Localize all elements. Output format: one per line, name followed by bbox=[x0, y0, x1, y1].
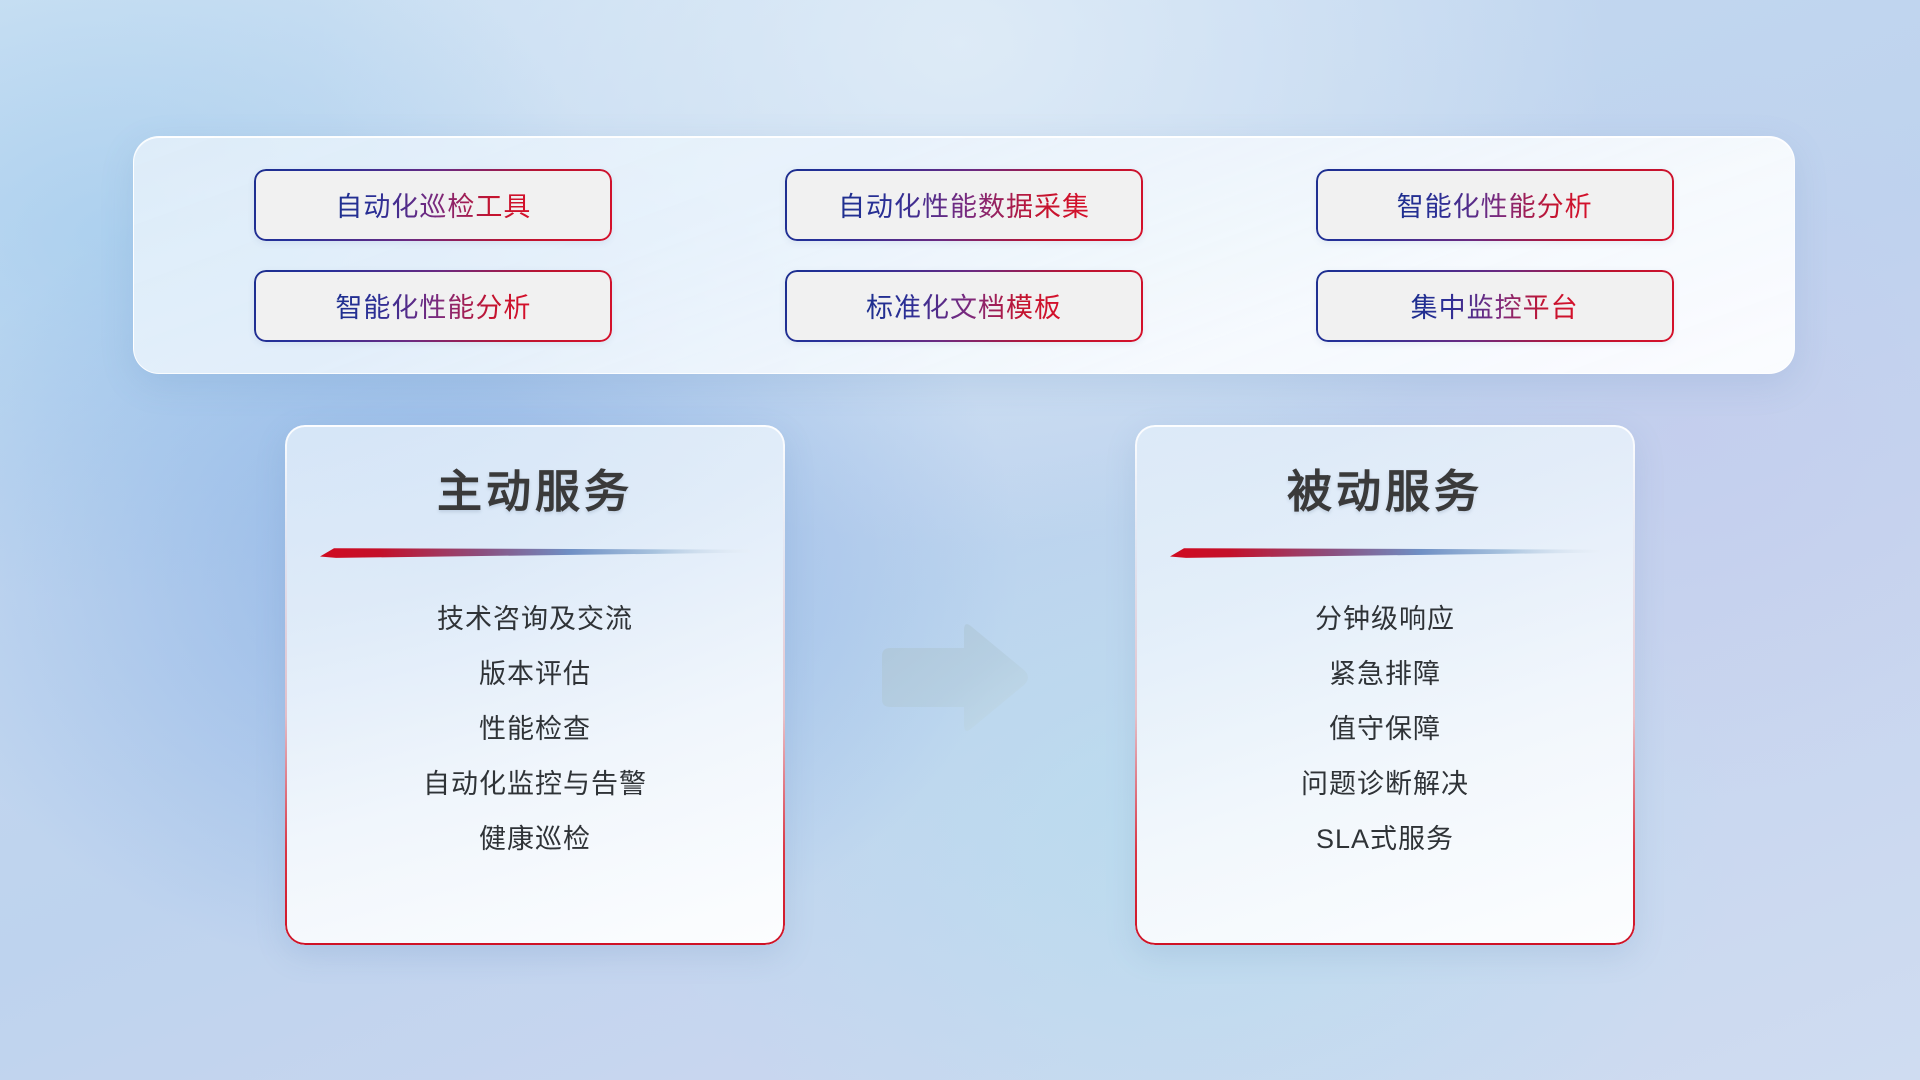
active-service-title: 主动服务 bbox=[285, 455, 785, 520]
capability-pill-label: 标准化文档模板 bbox=[866, 286, 1062, 325]
active-service-card: 主动服务 技术咨询及交流 版本评估 性能检查 bbox=[285, 425, 785, 945]
capability-pill[interactable]: 自动化性能数据采集 bbox=[785, 169, 1143, 241]
gradient-divider bbox=[1170, 546, 1600, 558]
list-item[interactable]: 自动化监控与告警 bbox=[285, 757, 785, 812]
passive-service-card: 被动服务 分钟级响应 紧急排障 值守保障 bbox=[1135, 425, 1635, 945]
capability-pill[interactable]: 自动化巡检工具 bbox=[254, 169, 612, 241]
list-item[interactable]: 性能检查 bbox=[285, 702, 785, 757]
capability-pill[interactable]: 智能化性能分析 bbox=[1316, 169, 1674, 241]
gradient-divider bbox=[320, 546, 750, 558]
capability-pill-label: 智能化性能分析 bbox=[335, 286, 531, 325]
capability-pill-label: 自动化巡检工具 bbox=[335, 185, 531, 224]
passive-service-list: 分钟级响应 紧急排障 值守保障 问题诊断解决 SLA式服务 bbox=[1135, 592, 1635, 867]
capability-panel: 自动化巡检工具 自动化性能数据采集 智能化性能分析 智能化性能分析 标准化文档模… bbox=[133, 136, 1795, 374]
capability-pill[interactable]: 集中监控平台 bbox=[1316, 270, 1674, 342]
list-item[interactable]: 健康巡检 bbox=[285, 812, 785, 867]
capability-pill[interactable]: 智能化性能分析 bbox=[254, 270, 612, 342]
active-service-list: 技术咨询及交流 版本评估 性能检查 自动化监控与告警 健康巡检 bbox=[285, 592, 785, 867]
passive-service-title: 被动服务 bbox=[1135, 455, 1635, 520]
list-item[interactable]: 分钟级响应 bbox=[1135, 592, 1635, 647]
arrow-right-icon bbox=[872, 620, 1032, 735]
list-item[interactable]: 技术咨询及交流 bbox=[285, 592, 785, 647]
capability-pill-label: 智能化性能分析 bbox=[1397, 185, 1593, 224]
list-item[interactable]: 版本评估 bbox=[285, 647, 785, 702]
list-item[interactable]: 问题诊断解决 bbox=[1135, 757, 1635, 812]
capability-pill[interactable]: 标准化文档模板 bbox=[785, 270, 1143, 342]
list-item[interactable]: 值守保障 bbox=[1135, 702, 1635, 757]
capability-pill-label: 集中监控平台 bbox=[1411, 286, 1579, 325]
capability-pill-label: 自动化性能数据采集 bbox=[838, 185, 1090, 224]
list-item[interactable]: SLA式服务 bbox=[1135, 812, 1635, 867]
slide-canvas: 自动化巡检工具 自动化性能数据采集 智能化性能分析 智能化性能分析 标准化文档模… bbox=[0, 0, 1920, 1080]
list-item[interactable]: 紧急排障 bbox=[1135, 647, 1635, 702]
